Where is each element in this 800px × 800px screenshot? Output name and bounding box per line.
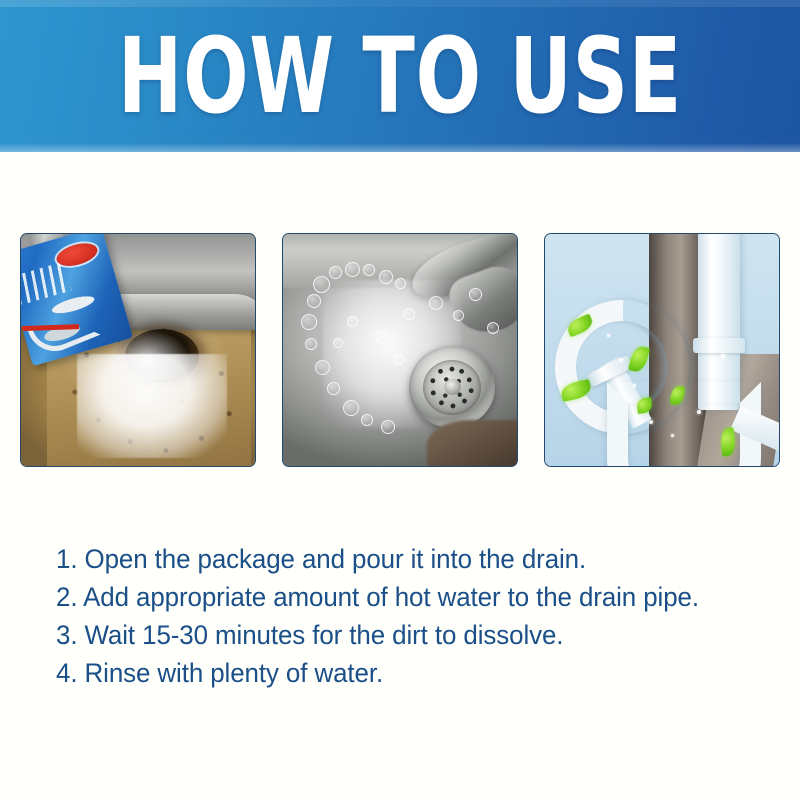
photo-panel-row	[20, 233, 780, 467]
foaming-sink-photo	[283, 234, 517, 466]
clean-pipe-illustration	[545, 234, 779, 466]
page-title: HOW TO USE	[104, 26, 696, 126]
instruction-list: 1. Open the package and pour it into the…	[56, 540, 743, 692]
panel-foaming-sink-drain	[282, 233, 518, 467]
instruction-step-4: 4. Rinse with plenty of water.	[56, 654, 743, 692]
panel-clean-pipe-illustration	[544, 233, 780, 467]
dirty-sink-photo	[21, 234, 255, 466]
white-powder	[77, 354, 227, 458]
instruction-step-2: 2. Add appropriate amount of hot water t…	[56, 578, 743, 616]
header-banner: HOW TO USE	[0, 0, 800, 152]
instruction-step-1: 1. Open the package and pour it into the…	[56, 540, 743, 578]
sparkles	[545, 234, 779, 466]
panel-pour-powder-into-drain	[20, 233, 256, 467]
instruction-step-3: 3. Wait 15-30 minutes for the dirt to di…	[56, 616, 743, 654]
drain-strainer-icon	[409, 346, 495, 428]
